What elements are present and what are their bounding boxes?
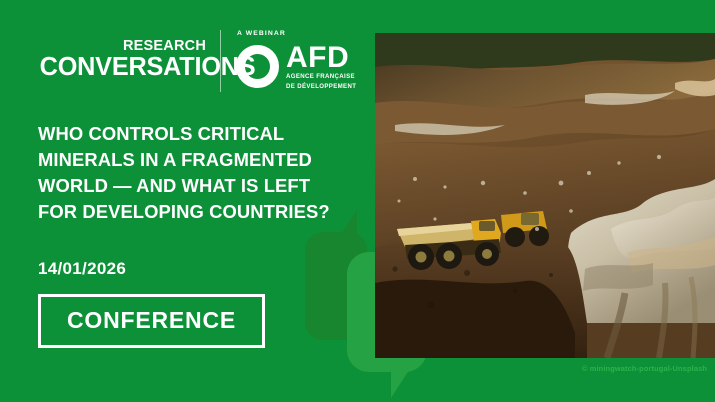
- afd-wordmark: AFD AGENCE FRANÇAISE DE DÉVELOPPEMENT: [286, 42, 356, 91]
- brand-lockup-row: RESEARCH CONVERSATIONS A WEBINAR AFD AGE…: [38, 28, 370, 92]
- afd-tagline-line1: AGENCE FRANÇAISE: [286, 73, 356, 81]
- afd-letters: AFD: [286, 44, 356, 71]
- hero-image: [375, 33, 715, 358]
- mine-photo-illustration: [375, 33, 715, 358]
- left-content-column: RESEARCH CONVERSATIONS A WEBINAR AFD AGE…: [0, 0, 370, 402]
- event-date: 14/01/2026: [38, 259, 370, 279]
- photo-credit: © miningwatch-portugal-Unsplash: [0, 364, 715, 373]
- page-title: Who controls critical minerals in a frag…: [38, 121, 346, 226]
- series-title-small: RESEARCH: [38, 39, 206, 54]
- webinar-label: A WEBINAR: [237, 30, 356, 37]
- afd-tagline-line2: DE DÉVELOPPEMENT: [286, 83, 356, 91]
- speech-bubble-light-tail: [391, 370, 409, 398]
- event-type-badge: CONFERENCE: [38, 294, 265, 348]
- series-title: RESEARCH CONVERSATIONS: [38, 28, 206, 81]
- series-title-big: CONVERSATIONS: [40, 54, 206, 82]
